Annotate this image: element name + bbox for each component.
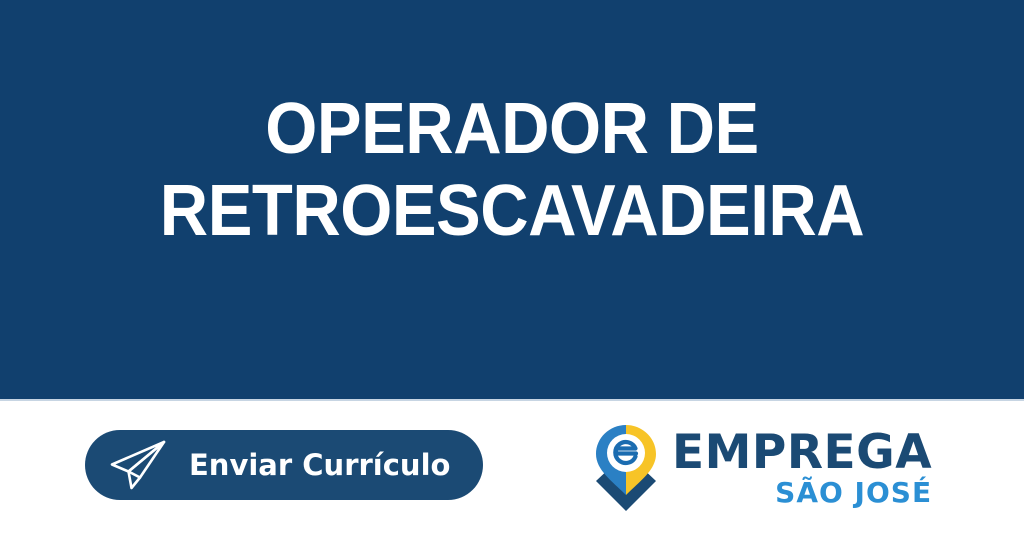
footer-bar: Enviar Currículo EMPREGA bbox=[0, 403, 1024, 536]
page-title: OPERADOR DE RETROESCAVADEIRA bbox=[36, 88, 988, 252]
brand-name: EMPREGA bbox=[672, 429, 932, 477]
job-title-banner: OPERADOR DE RETROESCAVADEIRA bbox=[0, 0, 1024, 401]
brand-logo[interactable]: EMPREGA SÃO JOSÉ bbox=[590, 421, 920, 519]
send-cv-button-label: Enviar Currículo bbox=[189, 448, 450, 482]
banner-content: OPERADOR DE RETROESCAVADEIRA bbox=[0, 0, 1024, 252]
paper-plane-icon bbox=[107, 439, 169, 491]
map-pin-e-icon bbox=[590, 421, 662, 520]
job-vacancy-card: OPERADOR DE RETROESCAVADEIRA Enviar Curr… bbox=[0, 0, 1024, 536]
brand-city-name: SÃO JOSÉ bbox=[775, 478, 932, 508]
send-cv-button[interactable]: Enviar Currículo bbox=[85, 430, 483, 500]
brand-wordmark: EMPREGA SÃO JOSÉ bbox=[672, 421, 932, 508]
